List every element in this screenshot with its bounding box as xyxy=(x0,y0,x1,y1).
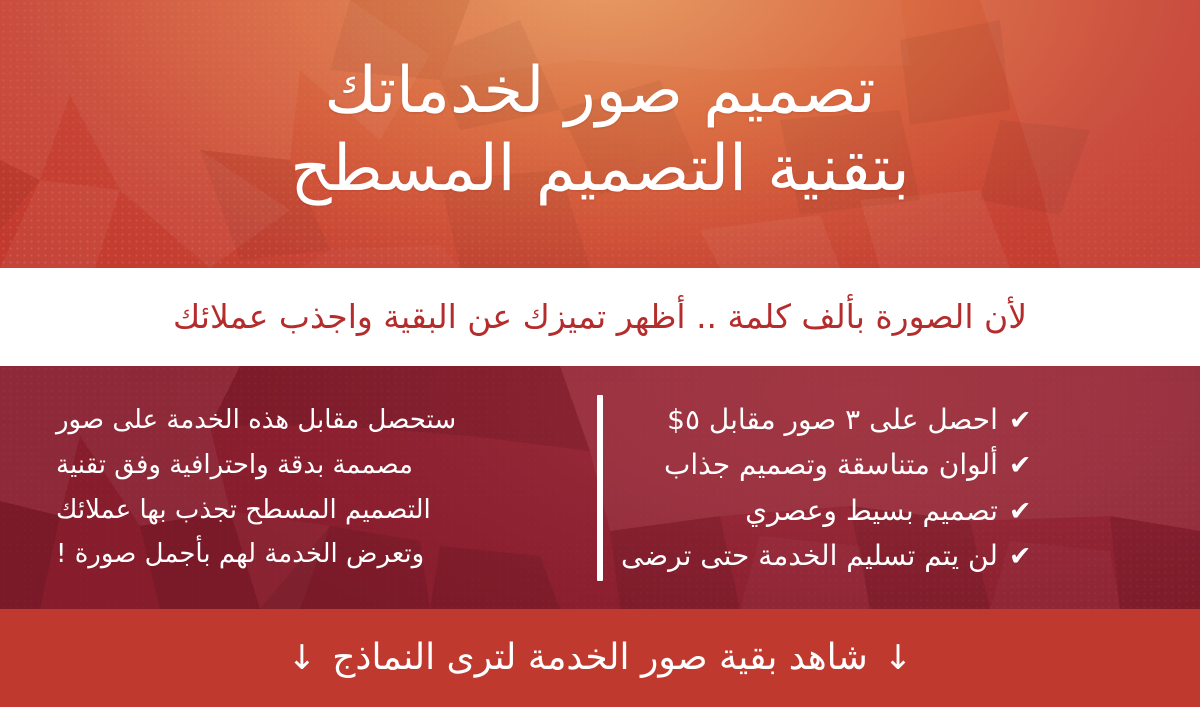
body-section: ✔ احصل على ٣ صور مقابل ٥$ ✔ ألوان متناسق… xyxy=(0,366,1200,609)
check-icon: ✔ xyxy=(1009,543,1032,570)
footer-banner: ↓ شاهد بقية صور الخدمة لترى النماذج ↓ xyxy=(0,609,1200,707)
feature-label: تصميم بسيط وعصري xyxy=(745,488,998,533)
check-icon: ✔ xyxy=(1009,498,1032,525)
headline-line-1: تصميم صور لخدماتك xyxy=(324,56,875,128)
check-icon: ✔ xyxy=(1009,407,1032,434)
feature-label: احصل على ٣ صور مقابل ٥$ xyxy=(667,397,998,442)
list-item: ✔ ألوان متناسقة وتصميم جذاب xyxy=(621,442,1032,487)
description-line: ستحصل مقابل هذه الخدمة على صور xyxy=(56,398,456,443)
list-item: ✔ لن يتم تسليم الخدمة حتى ترضى xyxy=(621,533,1032,578)
subtitle-text: لأن الصورة بألف كلمة .. أظهر تميزك عن ال… xyxy=(173,296,1027,337)
arrow-down-icon-right: ↓ xyxy=(884,641,913,675)
promo-poster: تصميم صور لخدماتك بتقنية التصميم المسطح … xyxy=(0,0,1200,707)
description-line: التصميم المسطح تجذب بها عملائك xyxy=(56,488,431,533)
list-item: ✔ احصل على ٣ صور مقابل ٥$ xyxy=(621,397,1032,442)
feature-label: ألوان متناسقة وتصميم جذاب xyxy=(664,442,998,487)
header-content: تصميم صور لخدماتك بتقنية التصميم المسطح xyxy=(0,0,1200,268)
features-list: ✔ احصل على ٣ صور مقابل ٥$ ✔ ألوان متناسق… xyxy=(621,397,1032,578)
feature-label: لن يتم تسليم الخدمة حتى ترضى xyxy=(621,533,998,578)
list-item: ✔ تصميم بسيط وعصري xyxy=(621,488,1032,533)
body-content: ✔ احصل على ٣ صور مقابل ٥$ ✔ ألوان متناسق… xyxy=(0,366,1200,609)
description-line: مصممة بدقة واحترافية وفق تقنية xyxy=(56,443,413,488)
footer-call-to-action-text: شاهد بقية صور الخدمة لترى النماذج xyxy=(332,636,868,679)
arrow-down-icon-left: ↓ xyxy=(288,641,317,675)
column-divider xyxy=(597,395,603,581)
features-column: ✔ احصل على ٣ صور مقابل ٥$ ✔ ألوان متناسق… xyxy=(605,397,1166,578)
check-icon: ✔ xyxy=(1009,452,1032,479)
description-column: ستحصل مقابل هذه الخدمة على صور مصممة بدق… xyxy=(34,398,595,577)
description-line: وتعرض الخدمة لهم بأجمل صورة ! xyxy=(56,532,424,577)
subtitle-band: لأن الصورة بألف كلمة .. أظهر تميزك عن ال… xyxy=(0,268,1200,366)
footer-content: ↓ شاهد بقية صور الخدمة لترى النماذج ↓ xyxy=(288,636,913,679)
header-banner: تصميم صور لخدماتك بتقنية التصميم المسطح xyxy=(0,0,1200,268)
headline-line-2: بتقنية التصميم المسطح xyxy=(290,134,909,206)
